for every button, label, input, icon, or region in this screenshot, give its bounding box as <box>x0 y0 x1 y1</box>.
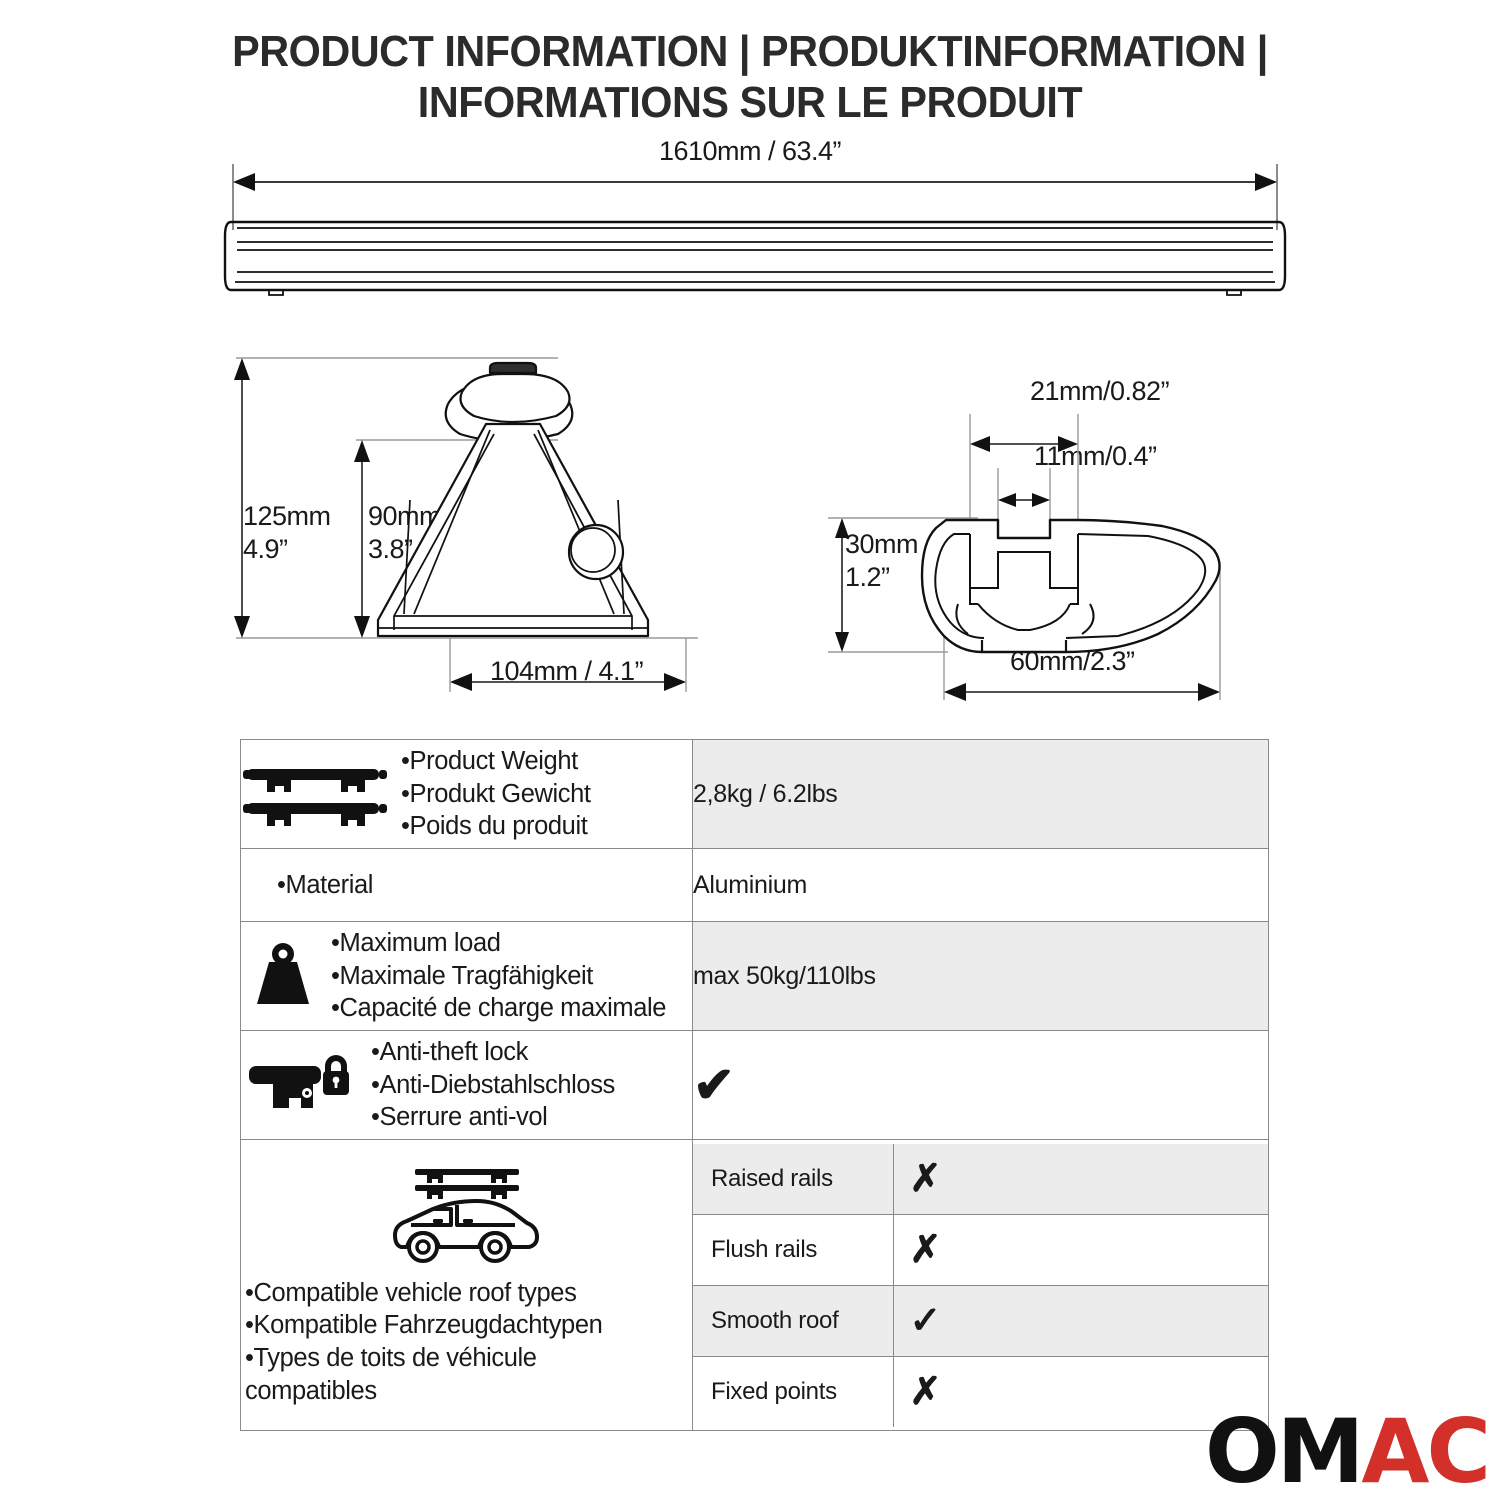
label-en: •Anti-theft lock <box>371 1036 615 1069</box>
roof-types-options-cell: Raised rails ✗ Flush rails ✗ <box>693 1140 1269 1431</box>
roof-type-mark: ✓ <box>893 1285 1268 1356</box>
foot-front-view-drawing <box>228 352 698 702</box>
roof-types-table: Raised rails ✗ Flush rails ✗ <box>693 1144 1268 1427</box>
page-title: PRODUCT INFORMATION | PRODUKTINFORMATION… <box>45 26 1455 128</box>
label-de: •Produkt Gewicht <box>401 778 591 811</box>
car-with-roof-bars-icon <box>387 1163 547 1271</box>
label-fr: •Poids du produit <box>401 810 591 843</box>
anti-theft-lock-labels: •Anti-theft lock •Anti-Diebstahlschloss … <box>371 1036 615 1134</box>
bar-cross-section-drawing <box>818 408 1288 708</box>
material-labels: •Material <box>277 869 692 902</box>
check-mark-icon: ✓ <box>910 1300 942 1342</box>
anti-theft-lock-label-cell: •Anti-theft lock •Anti-Diebstahlschloss … <box>241 1031 693 1140</box>
material-label-cell: •Material <box>241 849 693 922</box>
roof-type-name: Flush rails <box>693 1214 893 1285</box>
specification-table: •Product Weight •Produkt Gewicht •Poids … <box>240 739 1269 1431</box>
cross-mark-icon: ✗ <box>910 1158 942 1200</box>
label-fr: •Serrure anti-vol <box>371 1101 615 1134</box>
product-weight-label-cell: •Product Weight •Produkt Gewicht •Poids … <box>241 740 693 849</box>
weight-icon <box>241 940 325 1012</box>
cross-mark-icon: ✗ <box>910 1371 942 1413</box>
roof-type-row-raised-rails: Raised rails ✗ <box>693 1144 1268 1215</box>
roof-type-name: Smooth roof <box>693 1285 893 1356</box>
product-information-sheet: PRODUCT INFORMATION | PRODUKTINFORMATION… <box>0 0 1500 1500</box>
label-en: •Product Weight <box>401 745 591 778</box>
label-fr: •Types de toits de véhicule <box>245 1342 602 1375</box>
roof-types-label-cell: •Compatible vehicle roof types •Kompatib… <box>241 1140 693 1431</box>
bar-top-view-drawing <box>225 160 1285 310</box>
label-fr-cont: compatibles <box>245 1375 602 1408</box>
roof-type-name: Fixed points <box>693 1356 893 1427</box>
logo-text-dark: OM <box>1205 1400 1361 1503</box>
cross-mark-icon: ✗ <box>910 1229 942 1271</box>
label-de: •Kompatible Fahrzeugdachtypen <box>245 1309 602 1342</box>
roof-type-row-smooth-roof: Smooth roof ✓ <box>693 1285 1268 1356</box>
roof-type-row-flush-rails: Flush rails ✗ <box>693 1214 1268 1285</box>
label-en: •Material <box>277 869 692 902</box>
roof-types-labels: •Compatible vehicle roof types •Kompatib… <box>241 1277 602 1408</box>
label-fr: •Capacité de charge maximale <box>331 992 666 1025</box>
product-weight-value: 2,8kg / 6.2lbs <box>693 740 1269 849</box>
table-row-maximum-load: •Maximum load •Maximale Tragfähigkeit •C… <box>241 922 1269 1031</box>
table-row-material: •Material Aluminium <box>241 849 1269 922</box>
label-de: •Maximale Tragfähigkeit <box>331 960 666 993</box>
maximum-load-labels: •Maximum load •Maximale Tragfähigkeit •C… <box>331 927 666 1025</box>
label-en: •Maximum load <box>331 927 666 960</box>
omac-logo: OMAC <box>1205 1408 1488 1496</box>
page-title-line2: INFORMATIONS SUR LE PRODUIT <box>45 77 1455 128</box>
label-de: •Anti-Diebstahlschloss <box>371 1069 615 1102</box>
table-row-anti-theft-lock: •Anti-theft lock •Anti-Diebstahlschloss … <box>241 1031 1269 1140</box>
table-row-roof-types: •Compatible vehicle roof types •Kompatib… <box>241 1140 1269 1431</box>
product-weight-labels: •Product Weight •Produkt Gewicht •Poids … <box>401 745 591 843</box>
slot-outer-width-label: 21mm/0.82” <box>1030 375 1169 408</box>
page-title-line1: PRODUCT INFORMATION | PRODUKTINFORMATION… <box>232 27 1268 76</box>
roof-bars-icon <box>241 759 391 829</box>
roof-type-name: Raised rails <box>693 1144 893 1215</box>
maximum-load-value: max 50kg/110lbs <box>693 922 1269 1031</box>
label-en: •Compatible vehicle roof types <box>245 1277 602 1310</box>
anti-theft-lock-value: ✔ <box>693 1031 1269 1140</box>
check-mark-icon: ✔ <box>693 1057 735 1113</box>
material-value: Aluminium <box>693 849 1269 922</box>
roof-type-row-fixed-points: Fixed points ✗ <box>693 1356 1268 1427</box>
roof-type-mark: ✗ <box>893 1144 1268 1215</box>
logo-text-red: AC <box>1361 1400 1488 1503</box>
roof-type-mark: ✗ <box>893 1214 1268 1285</box>
table-row-product-weight: •Product Weight •Produkt Gewicht •Poids … <box>241 740 1269 849</box>
lock-icon <box>241 1052 361 1118</box>
maximum-load-label-cell: •Maximum load •Maximale Tragfähigkeit •C… <box>241 922 693 1031</box>
